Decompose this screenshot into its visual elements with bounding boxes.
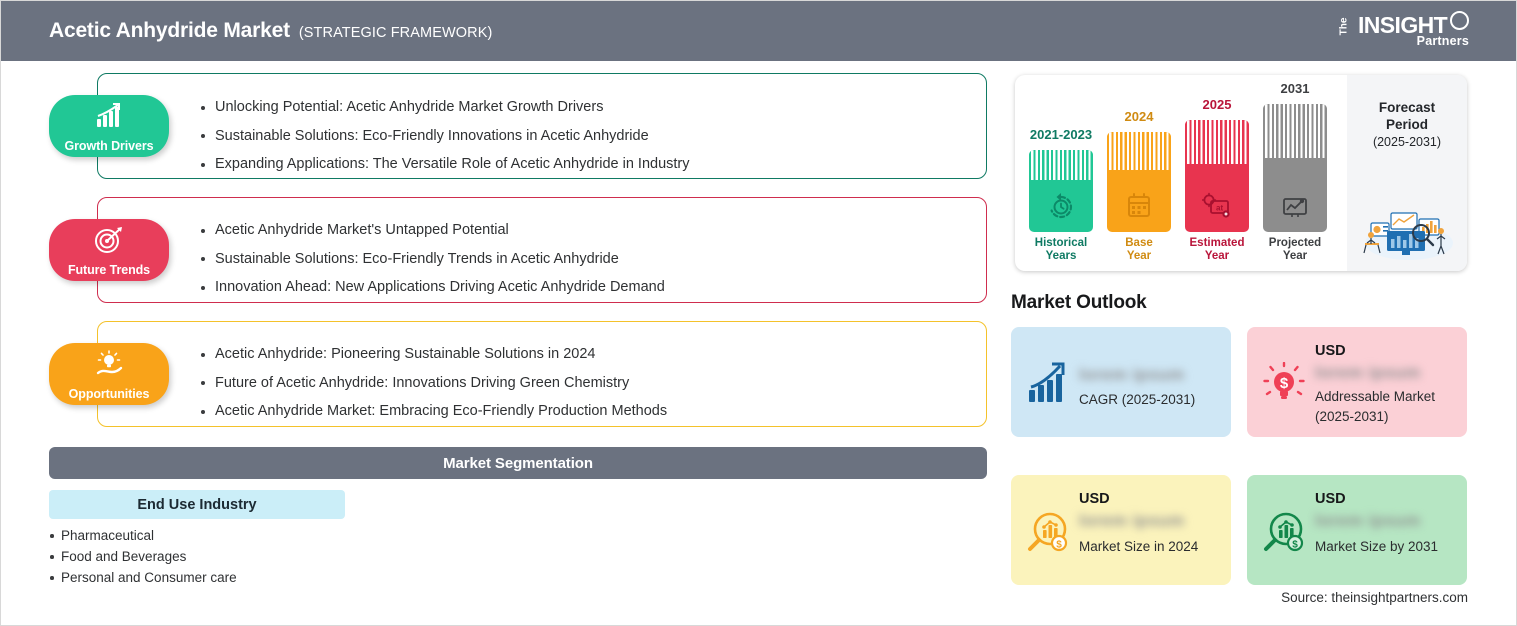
bar-stripes [1185, 120, 1249, 164]
bar-shape: at [1185, 120, 1249, 232]
card-caption: CAGR (2025-2031) [1079, 390, 1227, 410]
future-trends-bullets: Acetic Anhydride Market's Untapped Poten… [201, 216, 991, 302]
estimate-gear-icon: at [1202, 192, 1232, 220]
growth-bar-chart-icon [1025, 360, 1071, 406]
magnifier-chart-dollar-icon: $ [1025, 510, 1071, 556]
source-attribution: Source: theinsightpartners.com [1281, 590, 1468, 605]
bar-year-label: 2021-2023 [1030, 127, 1092, 142]
lightbulb-in-hand-icon [94, 350, 124, 378]
svg-text:at: at [1216, 204, 1223, 213]
analytics-illustration-icon [1357, 191, 1457, 261]
forecast-title-line1: Forecast [1379, 100, 1435, 115]
market-outlook-title: Market Outlook [1011, 292, 1147, 314]
timeline-bar-base: 2024 [1107, 75, 1171, 271]
magnifier-chart-dollar-icon: $ [1261, 510, 1307, 556]
card-value: lorem ipsum [1315, 363, 1455, 383]
clock-rewind-icon [1046, 192, 1076, 220]
card-value: lorem ipsum [1079, 511, 1219, 531]
page-header: Acetic Anhydride Market (STRATEGIC FRAME… [1, 1, 1517, 61]
list-item: Pharmaceutical [49, 525, 469, 546]
card-currency-label: USD [1315, 491, 1346, 507]
card-caption: Market Size in 2024 [1079, 537, 1227, 557]
card-caption: Market Size by 2031 [1315, 537, 1463, 557]
forecast-period-title: Forecast Period [1347, 99, 1467, 133]
bar-caption-line2: Years [1046, 250, 1077, 262]
list-item: Sustainable Solutions: Eco-Friendly Tren… [201, 245, 991, 274]
svg-text:$: $ [1280, 375, 1289, 392]
future-trends-badge[interactable]: Future Trends [49, 219, 169, 281]
end-use-industry-list: Pharmaceutical Food and Beverages Person… [49, 525, 469, 588]
bar-caption-line1: Historical [1035, 237, 1087, 249]
opportunities-badge[interactable]: Opportunities [49, 343, 169, 405]
market-segmentation-header: Market Segmentation [49, 447, 987, 479]
bar-shape [1107, 132, 1171, 232]
list-item: Acetic Anhydride Market: Embracing Eco-F… [201, 397, 991, 426]
list-item: Unlocking Potential: Acetic Anhydride Ma… [201, 93, 991, 122]
bar-caption-line1: Base [1125, 237, 1153, 249]
insight-partners-logo: The INSIGHT Partners [1342, 12, 1472, 52]
projection-screen-icon [1280, 192, 1310, 220]
bar-stripes [1107, 132, 1171, 170]
growth-drivers-badge[interactable]: Growth Drivers [49, 95, 169, 157]
svg-text:$: $ [1292, 540, 1298, 551]
page-subtitle: (STRATEGIC FRAMEWORK) [299, 25, 493, 41]
logo-the-text: The [1338, 18, 1349, 36]
list-item: Innovation Ahead: New Applications Drivi… [201, 273, 991, 302]
forecast-period-range: (2025-2031) [1347, 135, 1467, 149]
bar-caption: Historical Years [1016, 237, 1106, 262]
list-item: Acetic Anhydride Market's Untapped Poten… [201, 216, 991, 245]
opportunities-bullets: Acetic Anhydride: Pioneering Sustainable… [201, 340, 991, 426]
card-value: lorem ipsum [1079, 365, 1219, 385]
list-item: Sustainable Solutions: Eco-Friendly Inno… [201, 122, 991, 151]
timeline-bar-estimated: 2025 at [1185, 75, 1249, 271]
bar-caption: Estimated Year [1172, 237, 1262, 262]
calendar-icon [1124, 192, 1154, 220]
market-outlook-card-addressable[interactable]: $ USD lorem ipsum Addressable Market (20… [1247, 327, 1467, 437]
bar-stripes [1263, 104, 1327, 158]
bar-caption-line2: Year [1205, 250, 1229, 262]
card-currency-label: USD [1079, 491, 1110, 507]
lightbulb-dollar-icon: $ [1261, 362, 1307, 408]
timeline-bar-projected: 2031 Projected Year [1263, 75, 1327, 271]
bar-caption-line1: Estimated [1190, 237, 1245, 249]
end-use-industry-chip[interactable]: End Use Industry [49, 490, 345, 519]
logo-partners-text: Partners [1417, 34, 1469, 48]
bar-shape [1029, 150, 1093, 232]
badge-label: Future Trends [68, 264, 150, 277]
list-item: Expanding Applications: The Versatile Ro… [201, 150, 991, 179]
timeline-bars: 2021-2023 Historical Ye [1015, 75, 1347, 271]
bar-year-label: 2031 [1281, 81, 1310, 96]
bar-year-label: 2025 [1203, 97, 1232, 112]
page-title: Acetic Anhydride Market [49, 19, 290, 43]
bar-caption: Base Year [1094, 237, 1184, 262]
card-value: lorem ipsum [1315, 511, 1455, 531]
bar-caption-line2: Year [1283, 250, 1307, 262]
badge-label: Growth Drivers [65, 140, 154, 153]
timeline-bar-historical: 2021-2023 Historical Ye [1029, 75, 1093, 271]
svg-text:$: $ [1056, 540, 1062, 551]
magnifier-circle-icon [1450, 11, 1469, 30]
bar-stripes [1029, 150, 1093, 180]
list-item: Future of Acetic Anhydride: Innovations … [201, 369, 991, 398]
forecast-period-panel: Forecast Period (2025-2031) [1347, 75, 1467, 271]
card-currency-label: USD [1315, 343, 1346, 359]
bar-year-label: 2024 [1125, 109, 1154, 124]
bar-chart-arrow-icon [94, 102, 124, 130]
growth-drivers-bullets: Unlocking Potential: Acetic Anhydride Ma… [201, 93, 991, 179]
forecast-title-line2: Period [1386, 117, 1428, 132]
bar-caption-line2: Year [1127, 250, 1151, 262]
bar-shape [1263, 104, 1327, 232]
market-outlook-card-size-2031[interactable]: $ USD lorem ipsum Market Size by 2031 [1247, 475, 1467, 585]
bar-caption-line1: Projected [1269, 237, 1321, 249]
list-item: Personal and Consumer care [49, 567, 469, 588]
badge-label: Opportunities [69, 388, 150, 401]
list-item: Acetic Anhydride: Pioneering Sustainable… [201, 340, 991, 369]
infographic-page: Acetic Anhydride Market (STRATEGIC FRAME… [0, 0, 1517, 626]
market-outlook-card-cagr[interactable]: lorem ipsum CAGR (2025-2031) [1011, 327, 1231, 437]
card-caption: Addressable Market (2025-2031) [1315, 387, 1463, 427]
list-item: Food and Beverages [49, 546, 469, 567]
bar-caption: Projected Year [1250, 237, 1340, 262]
market-outlook-card-size-2024[interactable]: $ USD lorem ipsum Market Size in 2024 [1011, 475, 1231, 585]
header-title-group: Acetic Anhydride Market (STRATEGIC FRAME… [49, 19, 492, 43]
forecast-timeline-card: 2021-2023 Historical Ye [1015, 75, 1467, 271]
target-dart-icon [94, 226, 124, 254]
